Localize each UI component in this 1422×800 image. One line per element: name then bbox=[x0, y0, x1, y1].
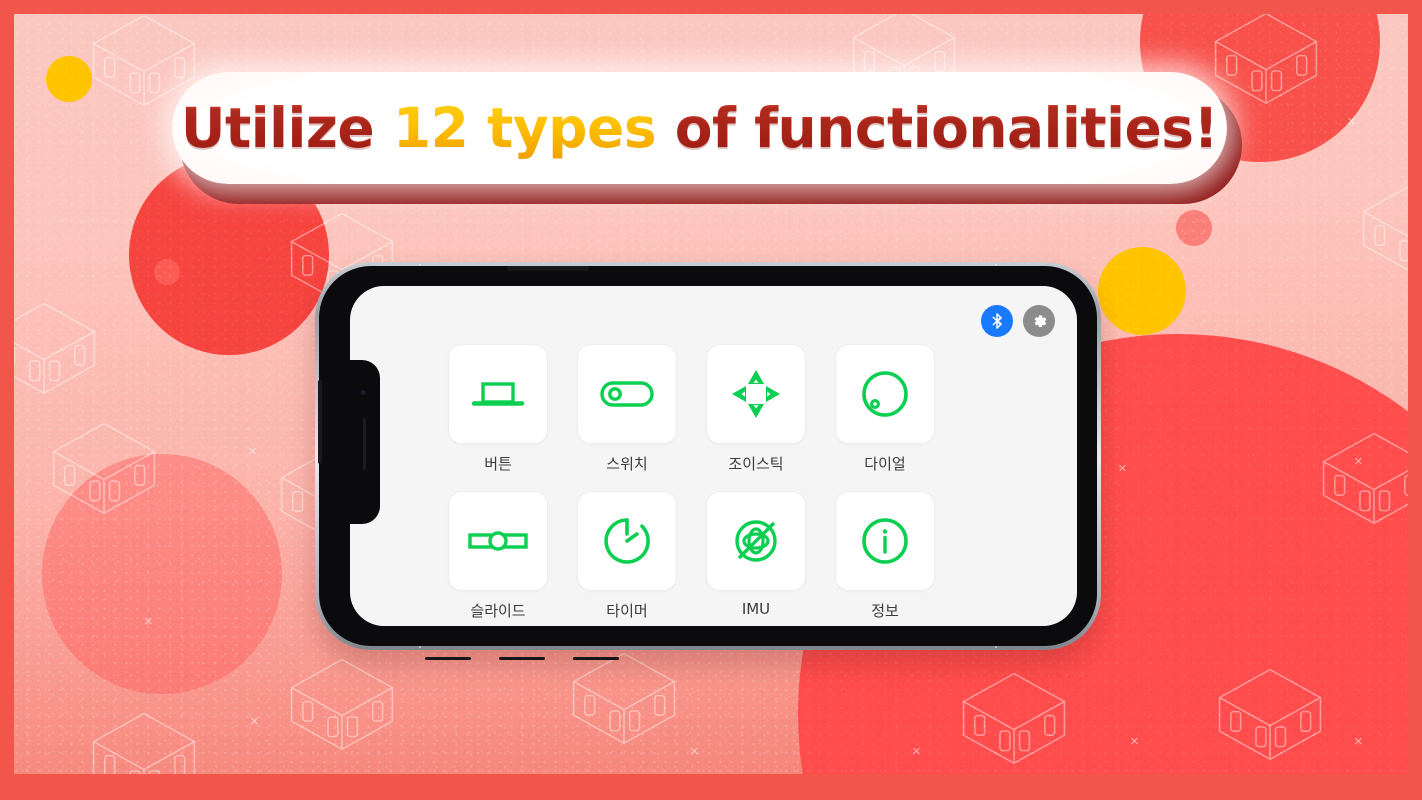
decor-circle-yellow-left bbox=[46, 56, 92, 102]
decor-circle-red-dot bbox=[154, 259, 180, 285]
headline-pill: Utilize 12 types of functionalities! bbox=[172, 72, 1227, 184]
info-icon bbox=[857, 513, 913, 569]
bluetooth-button[interactable] bbox=[981, 305, 1013, 337]
slider-icon bbox=[467, 525, 529, 557]
button-icon bbox=[470, 372, 526, 416]
grid-item-joystick[interactable]: 조이스틱 bbox=[706, 344, 806, 483]
grid-item-timer[interactable]: 타이머 bbox=[577, 491, 677, 626]
app-topbar bbox=[384, 304, 1055, 338]
grid-label: 다이얼 bbox=[864, 453, 905, 474]
promo-banner: × × × × × × × × × × × × Utilize 12 types… bbox=[0, 0, 1422, 800]
grid-item-imu[interactable]: IMU bbox=[706, 491, 806, 626]
decor-circle-yellow-right bbox=[1098, 247, 1186, 335]
grid-item-button[interactable]: 버튼 bbox=[448, 344, 548, 483]
decor-x-mark: × bbox=[250, 714, 259, 729]
imu-icon bbox=[727, 512, 785, 570]
card-button[interactable] bbox=[448, 344, 548, 444]
card-timer[interactable] bbox=[577, 491, 677, 591]
grid-label: 슬라이드 bbox=[470, 600, 525, 621]
app-ui: 버튼 스위치 bbox=[350, 286, 1077, 626]
card-info[interactable] bbox=[835, 491, 935, 591]
headline-text: Utilize 12 types of functionalities! bbox=[181, 96, 1218, 160]
headline-banner: Utilize 12 types of functionalities! bbox=[172, 72, 1234, 192]
decor-circle-pink-small bbox=[1176, 210, 1212, 246]
card-dial[interactable] bbox=[835, 344, 935, 444]
gear-icon bbox=[1030, 312, 1049, 331]
grid-item-dial[interactable]: 다이얼 bbox=[835, 344, 935, 483]
home-bar bbox=[573, 657, 619, 660]
grid-item-info[interactable]: 정보 bbox=[835, 491, 935, 626]
headline-part-2: of functionalities! bbox=[656, 96, 1218, 160]
earpiece-icon bbox=[363, 418, 366, 470]
home-bar bbox=[425, 657, 471, 660]
side-button[interactable] bbox=[318, 380, 322, 464]
phone-mockup: 버튼 스위치 bbox=[315, 262, 1101, 650]
dial-icon bbox=[857, 366, 913, 422]
home-indicator-bars bbox=[425, 657, 619, 660]
card-slider[interactable] bbox=[448, 491, 548, 591]
card-joystick[interactable] bbox=[706, 344, 806, 444]
grid-label: IMU bbox=[742, 600, 770, 618]
grid-label: 버튼 bbox=[484, 453, 512, 474]
phone-body: 버튼 스위치 bbox=[319, 266, 1097, 646]
front-camera-icon bbox=[361, 390, 366, 395]
headline-highlight: 12 types bbox=[393, 96, 656, 160]
settings-button[interactable] bbox=[1023, 305, 1055, 337]
grid-item-switch[interactable]: 스위치 bbox=[577, 344, 677, 483]
phone-screen: 버튼 스위치 bbox=[350, 286, 1077, 626]
grid-label: 스위치 bbox=[606, 453, 647, 474]
decor-x-mark: × bbox=[690, 744, 699, 759]
grid-label: 조이스틱 bbox=[728, 453, 783, 474]
timer-icon bbox=[599, 513, 655, 569]
headline-part-1: Utilize bbox=[181, 96, 393, 160]
function-grid: 버튼 스위치 bbox=[448, 344, 1055, 626]
switch-icon bbox=[598, 376, 656, 412]
grid-item-slider[interactable]: 슬라이드 bbox=[448, 491, 548, 626]
joystick-icon bbox=[727, 365, 785, 423]
bluetooth-icon bbox=[988, 312, 1006, 330]
card-switch[interactable] bbox=[577, 344, 677, 444]
grid-label: 타이머 bbox=[606, 600, 647, 621]
home-bar bbox=[499, 657, 545, 660]
earpiece-speaker bbox=[507, 266, 589, 271]
decor-circle-soft-left bbox=[42, 454, 282, 694]
grid-label: 정보 bbox=[871, 600, 899, 621]
card-imu[interactable] bbox=[706, 491, 806, 591]
decor-x-mark: × bbox=[248, 444, 257, 459]
phone-notch bbox=[350, 360, 380, 524]
